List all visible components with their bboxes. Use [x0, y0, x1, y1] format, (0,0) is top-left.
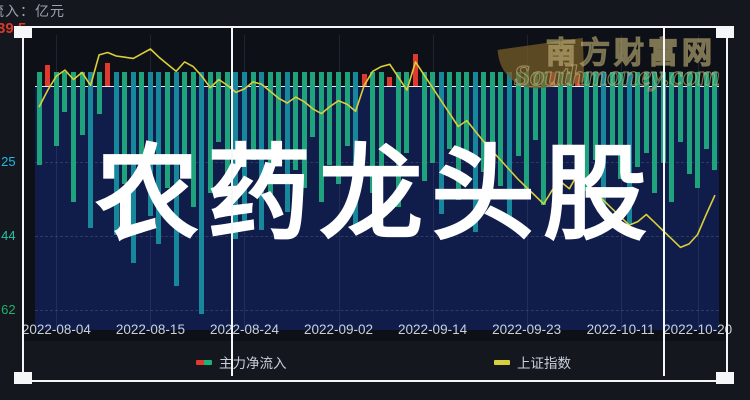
selection-guide-left: [231, 28, 233, 376]
screenshot-stage: 流入：亿元 -39.5 0-3.25-6.44-9.62 2022-08-042…: [0, 0, 750, 400]
legend-item[interactable]: 上证指数: [494, 352, 571, 372]
metric-label: 流入：亿元: [0, 1, 65, 21]
selection-handle-top-right[interactable]: [716, 26, 734, 38]
y-tick-label: -9.62: [0, 302, 16, 317]
y-tick-label: -6.44: [0, 228, 16, 243]
x-tick-label: 2022-08-04: [22, 322, 91, 337]
x-tick-label: 2022-08-24: [210, 322, 279, 337]
selection-handle-bottom-right[interactable]: [716, 372, 734, 384]
x-tick-label: 2022-10-20: [663, 322, 732, 337]
selection-guide-right: [663, 28, 665, 376]
chart-legend: 主力净流入上证指数: [0, 352, 750, 374]
x-tick-label: 2022-09-14: [398, 322, 467, 337]
selection-handle-bottom-left[interactable]: [14, 372, 32, 384]
legend-item[interactable]: 主力净流入: [196, 352, 287, 372]
legend-swatch-icon: [196, 360, 212, 365]
x-tick-label: 2022-08-15: [116, 322, 185, 337]
overlay-title: 农药龙头股: [95, 142, 655, 246]
legend-label: 上证指数: [517, 352, 571, 372]
y-tick-label: -3.25: [0, 154, 16, 169]
legend-label: 主力净流入: [219, 352, 287, 372]
selection-handle-top-left[interactable]: [14, 26, 32, 38]
x-tick-label: 2022-10-11: [587, 322, 655, 337]
x-axis-labels: 2022-08-042022-08-152022-08-242022-09-02…: [0, 322, 750, 344]
legend-swatch-icon: [494, 360, 510, 365]
x-tick-label: 2022-09-02: [304, 322, 373, 337]
x-tick-label: 2022-09-23: [492, 322, 561, 337]
